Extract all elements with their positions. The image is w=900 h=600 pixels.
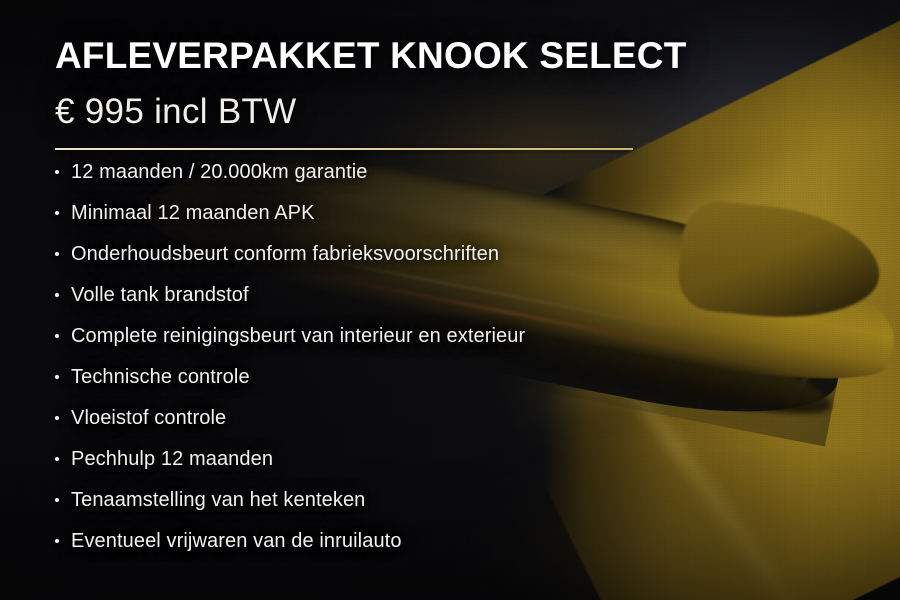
feature-list: 12 maanden / 20.000km garantie Minimaal … (55, 160, 860, 553)
list-item: Technische controle (55, 365, 860, 389)
list-item: Volle tank brandstof (55, 283, 860, 307)
list-item: Pechhulp 12 maanden (55, 447, 860, 471)
list-item: Onderhoudsbeurt conform fabrieksvoorschr… (55, 242, 860, 266)
list-item: Tenaamstelling van het kenteken (55, 488, 860, 512)
list-item: Vloeistof controle (55, 406, 860, 430)
price-label: € 995 incl BTW (55, 90, 860, 134)
slide-content: AFLEVERPAKKET KNOOK SELECT € 995 incl BT… (55, 34, 860, 570)
page-title: AFLEVERPAKKET KNOOK SELECT (55, 34, 860, 78)
promo-slide: AFLEVERPAKKET KNOOK SELECT € 995 incl BT… (0, 0, 900, 600)
list-item: 12 maanden / 20.000km garantie (55, 160, 860, 184)
list-item: Minimaal 12 maanden APK (55, 201, 860, 225)
list-item: Complete reinigingsbeurt van interieur e… (55, 324, 860, 348)
list-item: Eventueel vrijwaren van de inruilauto (55, 529, 860, 553)
divider (55, 148, 633, 150)
